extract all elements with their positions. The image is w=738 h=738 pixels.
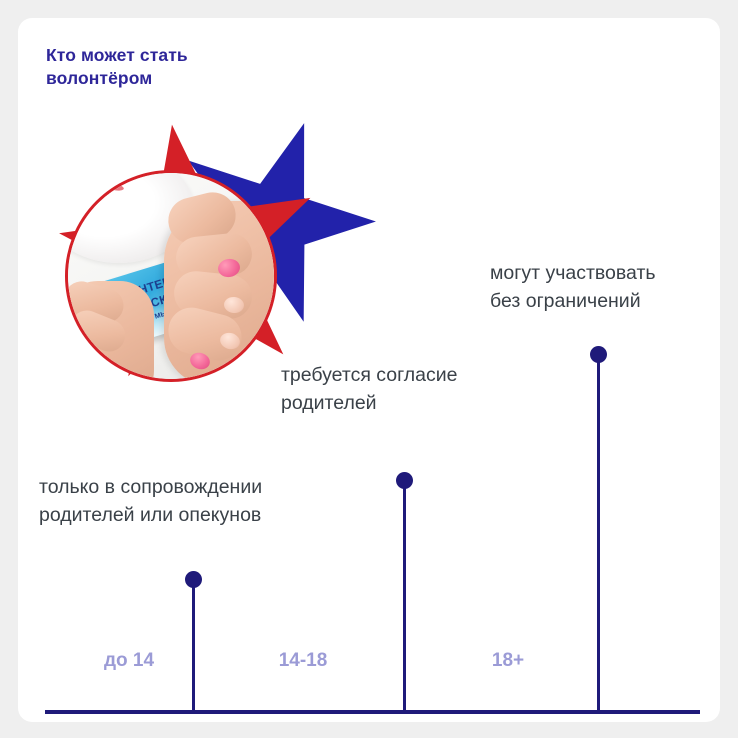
lollipop-dot-2[interactable]: [590, 346, 607, 363]
annotation-2: могут участвовать без ограничений: [490, 259, 720, 316]
annotation-0: только в сопровождении родителей или опе…: [39, 473, 389, 530]
category-label-0: до 14: [64, 650, 194, 672]
lollipop-dot-0[interactable]: [185, 571, 202, 588]
annotation-1: требуется согласие родителей: [281, 361, 561, 418]
infographic-card: Кто может стать волонтёром ВОЛОНТЕРЫ ПОД…: [18, 18, 720, 722]
lollipop-stem-1: [403, 480, 406, 712]
lollipop-chart: только в сопровождении родителей или опе…: [18, 18, 720, 722]
chart-axis-baseline: [45, 710, 700, 714]
category-label-1: 14-18: [238, 650, 368, 672]
lollipop-dot-1[interactable]: [396, 472, 413, 489]
category-label-2: 18+: [443, 650, 573, 672]
lollipop-stem-0: [192, 579, 195, 712]
lollipop-stem-2: [597, 354, 600, 712]
